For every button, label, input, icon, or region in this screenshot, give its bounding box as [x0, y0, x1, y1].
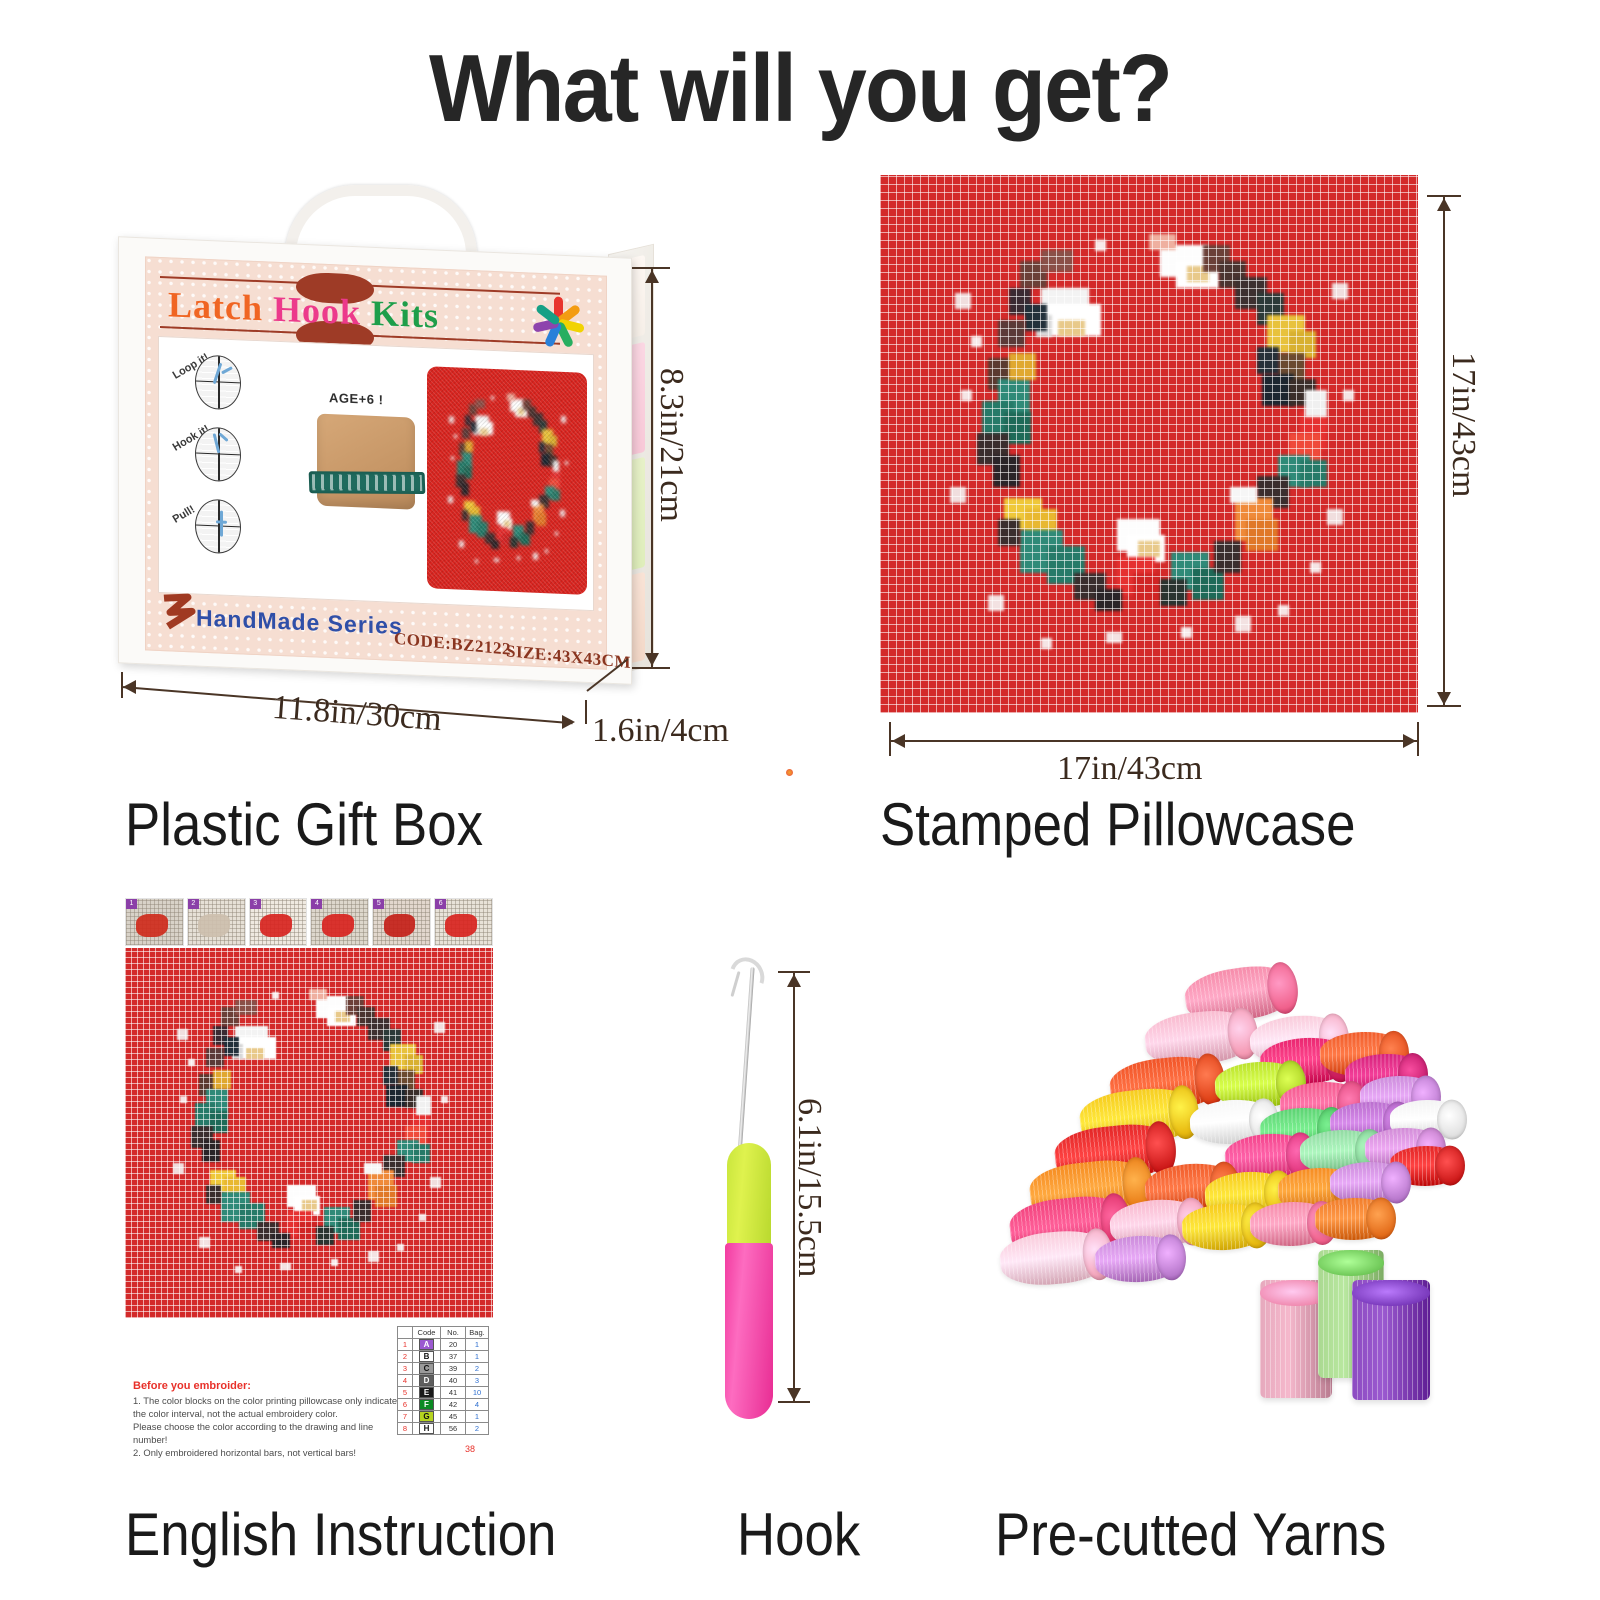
row-index: 7: [398, 1411, 413, 1423]
step-photo-content: [445, 914, 477, 937]
color-swatch: E: [419, 1387, 434, 1398]
notice-line-2: the color interval, not the actual embro…: [133, 1407, 401, 1420]
row-bag-count: 1: [466, 1351, 489, 1363]
mesh-pixel: [419, 1214, 426, 1221]
box-height-arrow-up: [645, 270, 659, 283]
pillow-height-label: 17in/43cm: [1444, 352, 1482, 497]
notice-line-1: 1. The color blocks on the color printin…: [133, 1394, 401, 1407]
hook-length-tick-bottom: [778, 1401, 810, 1403]
box-height-tick-top: [632, 267, 670, 269]
mesh-pixel: [246, 1048, 264, 1059]
mesh-pixel: [971, 336, 982, 347]
color-swatch: B: [419, 1351, 434, 1362]
caption-english-instruction: English Instruction: [125, 1500, 556, 1569]
instruction-chart-mesh: [125, 948, 493, 1318]
table-header-row: CodeNo.Bag.: [398, 1327, 489, 1339]
yarn-bundle-upright: [1352, 1280, 1430, 1400]
mesh-pixel: [177, 1029, 188, 1040]
mesh-pixel: [364, 1163, 382, 1174]
mesh-pixel: [199, 1237, 210, 1248]
mesh-pixel: [1214, 541, 1241, 573]
mesh-pixel: [272, 1233, 290, 1248]
pinwheel-logo-icon: [528, 291, 588, 354]
mesh-pixel: [1133, 573, 1160, 600]
box-depth-tick: [585, 700, 587, 724]
mesh-pixel: [1230, 487, 1257, 503]
mesh-pixel: [961, 390, 972, 401]
pillow-height-tick-bottom: [1427, 705, 1461, 707]
notice-line-4: 2. Only embroidered horizontal bars, not…: [133, 1446, 401, 1459]
mesh-pixel: [955, 293, 971, 309]
row-number: 37: [441, 1351, 466, 1363]
table-row: 1A201: [398, 1339, 489, 1351]
mesh-pixel: [1058, 320, 1085, 336]
step-photo-content: [322, 914, 354, 937]
step-photo-content: [136, 914, 168, 937]
mesh-pixel: [998, 320, 1025, 347]
color-swatch: F: [419, 1399, 434, 1410]
mesh-pixel: [331, 1259, 338, 1266]
color-swatch: G: [419, 1411, 434, 1422]
yarn-bundle-top: [1318, 1250, 1384, 1276]
table-row: 6F424: [398, 1399, 489, 1411]
row-index: 4: [398, 1375, 413, 1387]
row-bag-count: 4: [466, 1399, 489, 1411]
box-height-arrow-down: [645, 653, 659, 666]
mesh-pixel: [988, 595, 1004, 611]
mesh-pixel: [1332, 283, 1348, 299]
color-swatch: C: [419, 1363, 434, 1374]
row-color-swatch: H: [413, 1423, 441, 1435]
mesh-pixel: [1305, 390, 1327, 417]
mesh-pixel: [1138, 541, 1160, 557]
pre-cutted-yarns-image: [960, 950, 1460, 1430]
mesh-pixel: [1327, 509, 1343, 525]
gift-box-image: Latch Hook Kits Loop it!: [110, 185, 670, 705]
mesh-grid-overlay: [125, 948, 493, 1318]
box-step-circle-loop: [195, 354, 241, 410]
hook-length-arrow-down: [787, 1388, 801, 1401]
notice-line-3: Please choose the color according to the…: [133, 1420, 401, 1446]
mesh-pixel: [1278, 605, 1289, 616]
row-bag-count: 2: [466, 1423, 489, 1435]
yarn-bundle-end: [1381, 1161, 1412, 1204]
pillow-width-arrow-left: [892, 734, 905, 748]
mesh-pixel: [1235, 616, 1251, 632]
box-height-label: 8.3in/21cm: [652, 368, 690, 522]
brand-word-hook: Hook: [273, 289, 361, 333]
row-index: 1: [398, 1339, 413, 1351]
pillow-height-arrow-up: [1437, 198, 1451, 211]
pillow-height-tick-top: [1427, 195, 1461, 197]
row-color-swatch: C: [413, 1363, 441, 1375]
step-thumbnail: 3: [249, 898, 308, 946]
caption-hook: Hook: [737, 1500, 860, 1569]
step-photo-content: [260, 914, 292, 937]
step-number-badge: 4: [311, 899, 322, 909]
mesh-pixel: [309, 989, 327, 1000]
caption-stamped-pillowcase: Stamped Pillowcase: [880, 790, 1355, 859]
mesh-pixel: [993, 455, 1020, 487]
table-header-cell: No.: [441, 1327, 466, 1339]
mesh-pixel: [206, 1185, 221, 1204]
caption-pre-cutted-yarns: Pre-cutted Yarns: [995, 1500, 1386, 1569]
hook-length-label: 6.1in/15.5cm: [790, 1098, 828, 1277]
mesh-pixel: [302, 1200, 317, 1211]
row-color-swatch: B: [413, 1351, 441, 1363]
box-step-label-pull: Pull!: [171, 503, 198, 525]
table-row: 3C392: [398, 1363, 489, 1375]
hook-handle-upper: [727, 1143, 771, 1248]
pillow-width-dimline: [890, 740, 1418, 742]
box-depth-label: 1.6in/4cm: [592, 712, 729, 750]
mesh-pixel: [998, 519, 1020, 546]
mesh-pixel: [441, 1096, 448, 1103]
mesh-pixel: [1246, 519, 1278, 551]
product-feature-page: What will you get? Latch Hook Kits: [0, 0, 1600, 1600]
mesh-pixel: [235, 1266, 242, 1273]
caption-plastic-gift-box: Plastic Gift Box: [125, 790, 483, 859]
mesh-pixel: [375, 1185, 397, 1207]
box-printed-face: Latch Hook Kits Loop it!: [145, 256, 607, 669]
mesh-pixel: [235, 1000, 257, 1015]
mesh-pixel: [1343, 390, 1354, 401]
yarn-bundle-top: [1352, 1280, 1430, 1306]
mesh-pixel: [224, 1037, 239, 1056]
mesh-pixel: [280, 1263, 291, 1270]
row-number: 41: [441, 1387, 466, 1399]
mesh-pixel: [1149, 234, 1176, 250]
age-label: AGE+6 !: [329, 390, 383, 407]
mesh-pixel: [383, 1066, 398, 1085]
mesh-pixel: [1300, 460, 1327, 487]
blank-pillow-illustration: [317, 414, 415, 510]
box-step-circle-hook: [195, 426, 241, 482]
mesh-pixel: [1095, 240, 1106, 251]
mesh-pixel: [298, 1222, 316, 1241]
box-width-arrow-left: [123, 680, 136, 694]
row-color-swatch: D: [413, 1375, 441, 1387]
step-thumbnail: 6: [434, 898, 493, 946]
mesh-pixel: [430, 1177, 441, 1188]
hook-handle-lower: [725, 1243, 773, 1419]
step-thumbnail: 5: [372, 898, 431, 946]
hook-length-arrow-up: [787, 974, 801, 987]
mesh-pixel: [1257, 347, 1279, 374]
pillow-width-arrow-right: [1403, 734, 1416, 748]
step-number-badge: 1: [126, 899, 137, 909]
step-photo-content: [384, 914, 416, 937]
row-number: 20: [441, 1339, 466, 1351]
row-bag-count: 10: [466, 1387, 489, 1399]
mesh-pixel: [1041, 638, 1052, 649]
mesh-pixel: [180, 1096, 187, 1103]
yarn-bundle-end: [1435, 1145, 1466, 1186]
color-swatch: A: [419, 1339, 434, 1350]
row-color-swatch: A: [413, 1339, 441, 1351]
mesh-pixel: [353, 1200, 371, 1222]
hook-needle-shaft: [737, 967, 754, 1157]
brand-word-kits: Kits: [371, 293, 439, 336]
row-color-swatch: F: [413, 1399, 441, 1411]
mesh-pixel: [173, 1163, 184, 1174]
step-thumbnail: 1: [125, 898, 184, 946]
mesh-pixel: [202, 1140, 220, 1162]
step-thumbnail-strip: 123456: [125, 898, 493, 944]
row-number: 40: [441, 1375, 466, 1387]
yarn-bundle: [1315, 1197, 1394, 1240]
row-number: 39: [441, 1363, 466, 1375]
mesh-pixel: [316, 1226, 334, 1245]
row-number: 45: [441, 1411, 466, 1423]
english-instruction-image: 123456 Before you embroider: 1. The colo…: [125, 898, 493, 1478]
table-row: 2B371: [398, 1351, 489, 1363]
pillow-width-tick-left: [889, 722, 891, 756]
mesh-pixel: [188, 1059, 195, 1066]
row-color-swatch: E: [413, 1387, 441, 1399]
pillow-width-tick-right: [1417, 722, 1419, 756]
stamped-pillowcase-image: [880, 175, 1418, 713]
row-index: 5: [398, 1387, 413, 1399]
step-thumbnail: 4: [310, 898, 369, 946]
row-bag-count: 1: [466, 1339, 489, 1351]
mesh-pixel: [1181, 627, 1192, 638]
hook-length-tick-top: [778, 971, 810, 973]
mesh-pixel: [416, 1096, 431, 1115]
mesh-pixel: [1095, 589, 1122, 611]
product-code: CODE:BZ2122: [394, 629, 511, 660]
row-bag-count: 1: [466, 1411, 489, 1423]
yarn-total-count: 38: [465, 1444, 475, 1454]
row-color-swatch: G: [413, 1411, 441, 1423]
notice-title: Before you embroider:: [133, 1380, 251, 1392]
step-number-badge: 3: [250, 899, 261, 909]
page-title: What will you get?: [64, 34, 1536, 144]
mesh-pixel: [1009, 353, 1036, 380]
pillow-yarn-texture: [427, 366, 587, 595]
mesh-pixel: [412, 1144, 430, 1163]
mesh-pixel: [1160, 579, 1187, 606]
step-number-badge: 5: [373, 899, 384, 909]
step-photo-content: [198, 914, 230, 937]
pillow-width-label: 17in/43cm: [1057, 750, 1202, 788]
box-height-tick-bottom: [632, 667, 670, 669]
yarn-bundle-end: [1366, 1197, 1397, 1240]
box-illustration-panel: Loop it! Hook it! Pull!: [158, 336, 594, 611]
mesh-pixel: [1310, 562, 1321, 573]
row-number: 42: [441, 1399, 466, 1411]
row-number: 56: [441, 1423, 466, 1435]
mesh-pixel: [397, 1244, 404, 1251]
color-swatch: D: [419, 1375, 434, 1386]
mesh-pixel: [206, 1048, 224, 1067]
mesh-pixel: [368, 1251, 379, 1262]
mesh-pixel: [434, 1022, 445, 1033]
table-header-cell: Code: [413, 1327, 441, 1339]
ruler-icon: [158, 590, 200, 634]
table-row: 8H562: [398, 1423, 489, 1435]
step-number-badge: 2: [188, 899, 199, 909]
mesh-pixel: [1025, 304, 1047, 331]
table-header-cell: Bag.: [466, 1327, 489, 1339]
row-bag-count: 3: [466, 1375, 489, 1387]
row-index: 2: [398, 1351, 413, 1363]
table-row: 5E4110: [398, 1387, 489, 1399]
box-front: Latch Hook Kits Loop it!: [118, 236, 632, 685]
brand-word-latch: Latch: [168, 284, 263, 328]
step-thumbnail: 2: [187, 898, 246, 946]
pillow-band: [309, 471, 426, 494]
stray-artifact-dot: [786, 769, 793, 776]
mesh-pixel: [272, 992, 279, 999]
mesh-pixel: [213, 1070, 231, 1089]
row-index: 8: [398, 1423, 413, 1435]
table-header-cell: [398, 1327, 413, 1339]
mesh-pixel: [950, 487, 966, 503]
mesh-grid-overlay: [880, 175, 1418, 713]
row-bag-count: 2: [466, 1363, 489, 1375]
mesh-pixel: [1106, 632, 1122, 643]
pillow-height-arrow-down: [1437, 692, 1451, 705]
table-row: 4D403: [398, 1375, 489, 1387]
row-index: 3: [398, 1363, 413, 1375]
step-number-badge: 6: [435, 899, 446, 909]
notice-body: 1. The color blocks on the color printin…: [133, 1394, 401, 1459]
color-legend-table: CodeNo.Bag.1A2012B3713C3924D4035E41106F4…: [397, 1326, 489, 1435]
box-step-circle-pull: [195, 498, 241, 554]
series-label: HandMade Series: [196, 604, 403, 640]
row-index: 6: [398, 1399, 413, 1411]
table-row: 7G451: [398, 1411, 489, 1423]
finished-pillow-illustration: [427, 366, 587, 595]
box-width-arrow-right: [562, 715, 575, 729]
mesh-pixel: [1041, 250, 1073, 272]
color-swatch: H: [419, 1423, 434, 1434]
